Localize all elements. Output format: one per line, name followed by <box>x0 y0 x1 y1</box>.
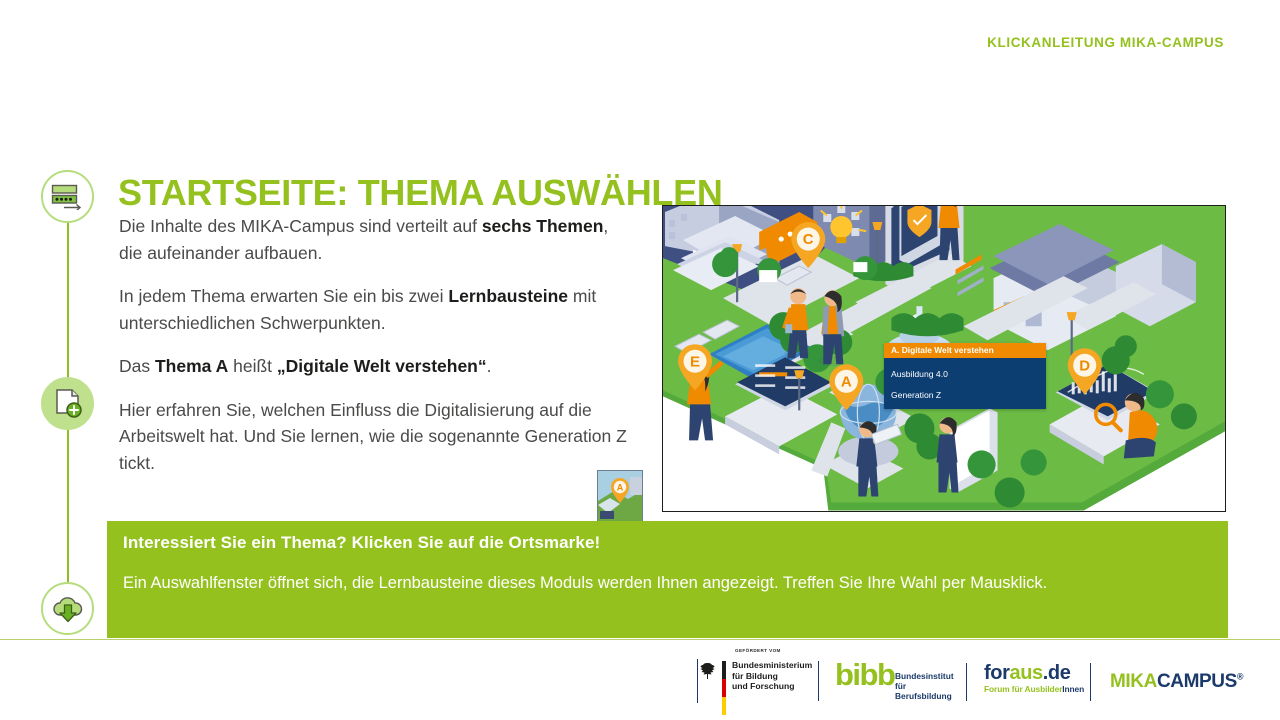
bibb-line: Berufsbildung <box>895 691 960 701</box>
page-title: STARTSEITE: THEMA AUSWÄHLEN <box>118 172 723 214</box>
body-text: heißt <box>228 356 277 376</box>
bibb-word: bibb <box>835 657 894 692</box>
document-add-icon <box>52 388 84 420</box>
slide: KLICKANLEITUNG MIKA-CAMPUS <box>0 0 1280 720</box>
login-form-icon <box>51 184 85 210</box>
body-paragraph: In jedem Thema erwarten Sie ein bis zwei… <box>119 283 629 336</box>
body-emphasis: Lernbausteine <box>448 286 568 306</box>
eagle-glyph <box>700 662 716 680</box>
body-paragraph: Hier erfahren Sie, welchen Einfluss die … <box>119 397 629 477</box>
body-text: Hier erfahren Sie, welchen Einfluss die … <box>119 400 627 473</box>
footer-separator <box>1090 663 1091 701</box>
campus-word: CAMPUS <box>1157 671 1237 692</box>
topic-popup[interactable]: A. Digitale Welt verstehen Ausbildung 4.… <box>884 343 1046 409</box>
sidebar-item-document-add[interactable] <box>41 377 94 430</box>
foraus-tagline: Forum für AusbilderInnen <box>984 684 1089 695</box>
footer-separator <box>697 659 698 703</box>
page-eyebrow: KLICKANLEITUNG MIKA-CAMPUS <box>987 35 1224 50</box>
foraus-word-c: .de <box>1043 662 1071 684</box>
bmbf-line: für Bildung <box>732 671 812 682</box>
bibb-wordmark: bibb <box>835 659 894 690</box>
registered-mark: ® <box>1237 672 1243 682</box>
cloud-download-icon <box>51 594 85 624</box>
body-text: Die Inhalte des MIKA-Campus sind verteil… <box>119 216 482 236</box>
topic-popup-title: A. Digitale Welt verstehen <box>884 343 1046 358</box>
sidebar-item-login[interactable] <box>41 170 94 223</box>
body-emphasis: Thema A <box>155 356 228 376</box>
bibb-line: Bundesinstitut für <box>895 671 960 691</box>
federal-eagle-icon <box>700 662 716 680</box>
svg-text:A: A <box>617 483 624 493</box>
german-flag-bar <box>722 661 726 717</box>
svg-text:E: E <box>690 353 700 370</box>
foraus-wordmark: foraus.de <box>984 663 1089 684</box>
funded-by-label: GEFÖRDERT VOM <box>735 648 781 653</box>
footer-divider <box>0 639 1280 640</box>
topic-popup-item[interactable]: Ausbildung 4.0 <box>891 364 1046 385</box>
topic-popup-item[interactable]: Generation Z <box>891 385 1046 406</box>
body-text: In jedem Thema erwarten Sie ein bis zwei <box>119 286 448 306</box>
left-rail <box>41 145 95 640</box>
body-emphasis: sechs Themen <box>482 216 604 236</box>
footer: GEFÖRDERT VOM Bundesministerium für Bild… <box>0 645 1280 720</box>
bibb-tagline: Bundesinstitut für Berufsbildung <box>895 671 960 701</box>
body-copy: Die Inhalte des MIKA-Campus sind verteil… <box>119 213 629 493</box>
topic-popup-body: Ausbildung 4.0 Generation Z <box>884 358 1046 409</box>
callout-heading: Interessiert Sie ein Thema? Klicken Sie … <box>123 531 1212 555</box>
campus-illustration-frame[interactable]: C E A D A. Digitale Welt verstehen A <box>662 205 1226 512</box>
sidebar-item-download[interactable] <box>41 582 94 635</box>
foraus-logo: foraus.de Forum für AusbilderInnen <box>984 663 1089 695</box>
svg-text:A: A <box>841 373 852 390</box>
map-marker-thumbnail[interactable]: A <box>597 470 643 522</box>
foraus-word-a: for <box>984 662 1009 684</box>
mikacampus-logo: MIKACAMPUS® <box>1110 671 1243 693</box>
foraus-word-b: aus <box>1009 662 1042 684</box>
bmbf-wordmark: Bundesministerium für Bildung und Forsch… <box>732 660 812 692</box>
callout-banner: Interessiert Sie ein Thema? Klicken Sie … <box>107 521 1228 638</box>
svg-text:C: C <box>803 231 814 248</box>
footer-separator <box>966 663 967 701</box>
thumbnail-map-pin: A <box>598 471 642 521</box>
body-text: . <box>487 356 492 376</box>
mika-word: MIKA <box>1110 671 1157 692</box>
svg-text:D: D <box>1079 357 1090 374</box>
callout-text: Ein Auswahlfenster öffnet sich, die Lern… <box>123 564 1212 602</box>
foraus-tagline-b: Innen <box>1062 684 1084 694</box>
bmbf-line: Bundesministerium <box>732 660 812 671</box>
bibb-logo: bibb Bundesinstitut für Berufsbildung <box>835 665 960 701</box>
bmbf-logo: Bundesministerium für Bildung und Forsch… <box>700 660 830 712</box>
foraus-tagline-a: Forum für Ausbilder <box>984 684 1062 694</box>
footer-separator <box>818 661 819 701</box>
body-paragraph: Die Inhalte des MIKA-Campus sind verteil… <box>119 213 629 266</box>
body-text: Das <box>119 356 155 376</box>
bmbf-line: und Forschung <box>732 681 812 692</box>
body-emphasis: „Digitale Welt verstehen“ <box>277 356 487 376</box>
body-paragraph: Das Thema A heißt „Digitale Welt versteh… <box>119 353 629 380</box>
